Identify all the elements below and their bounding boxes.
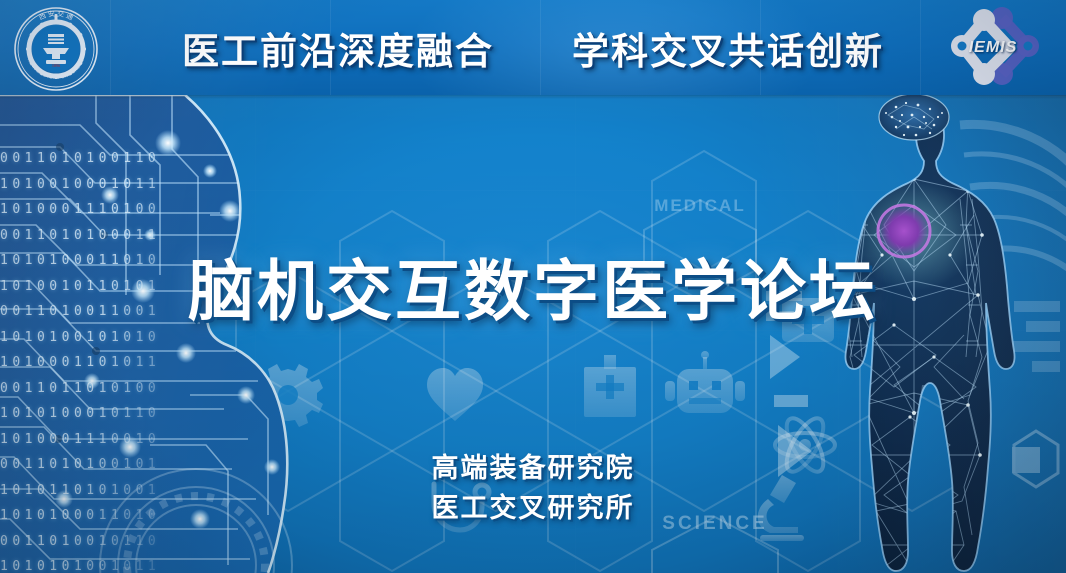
watermark-medical: MEDICAL xyxy=(645,196,755,216)
iemis-logo[interactable]: IEMIS xyxy=(932,4,1054,92)
iemis-logo-text: IEMIS xyxy=(932,4,1054,92)
organizer-line-2: 医工交叉研究所 xyxy=(0,488,1066,528)
page-title: 脑机交互数字医学论坛 xyxy=(0,238,1066,334)
poster-root: MEDICAL SCIENCE xyxy=(0,0,1066,573)
organizer-line-1: 高端装备研究院 xyxy=(0,448,1066,488)
header-slogan: 医工前沿深度融合 学科交叉共话创新 xyxy=(0,0,1066,95)
header-underline xyxy=(0,95,1066,99)
organizer-block: 高端装备研究院 医工交叉研究所 xyxy=(0,448,1066,528)
brain-icon xyxy=(879,95,949,140)
